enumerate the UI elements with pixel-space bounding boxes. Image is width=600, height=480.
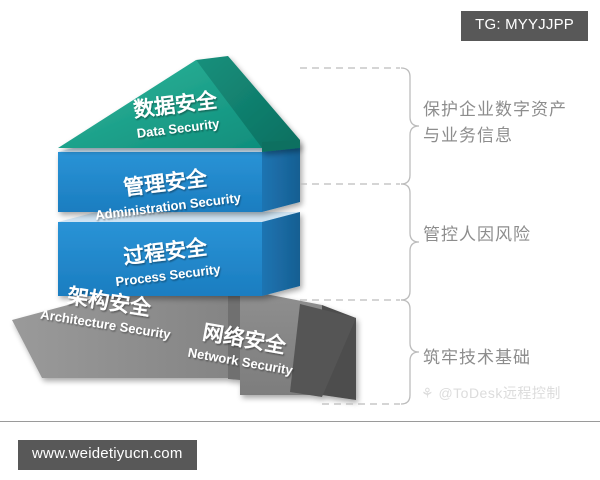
- footer-divider: [0, 421, 600, 422]
- diagram-canvas: 数据安全 Data Security 管理安全 Administration S…: [0, 0, 600, 480]
- annotation-data-text: 保护企业数字资产 与业务信息: [423, 97, 567, 149]
- annotation-people-text: 管控人因风险: [423, 222, 531, 248]
- brace-people-risk: [401, 184, 419, 300]
- process-right-face: [262, 212, 300, 296]
- todesk-watermark: ⚘ @ToDesk远程控制: [421, 383, 561, 403]
- annotation-foundation-text: 筑牢技术基础: [423, 345, 531, 371]
- brace-foundation: [401, 300, 419, 404]
- admin-right-face: [262, 142, 300, 212]
- brace-data-security: [401, 68, 419, 184]
- site-watermark-badge: www.weidetiyucn.com: [18, 440, 197, 470]
- tg-watermark-badge: TG: MYYJJPP: [461, 11, 588, 41]
